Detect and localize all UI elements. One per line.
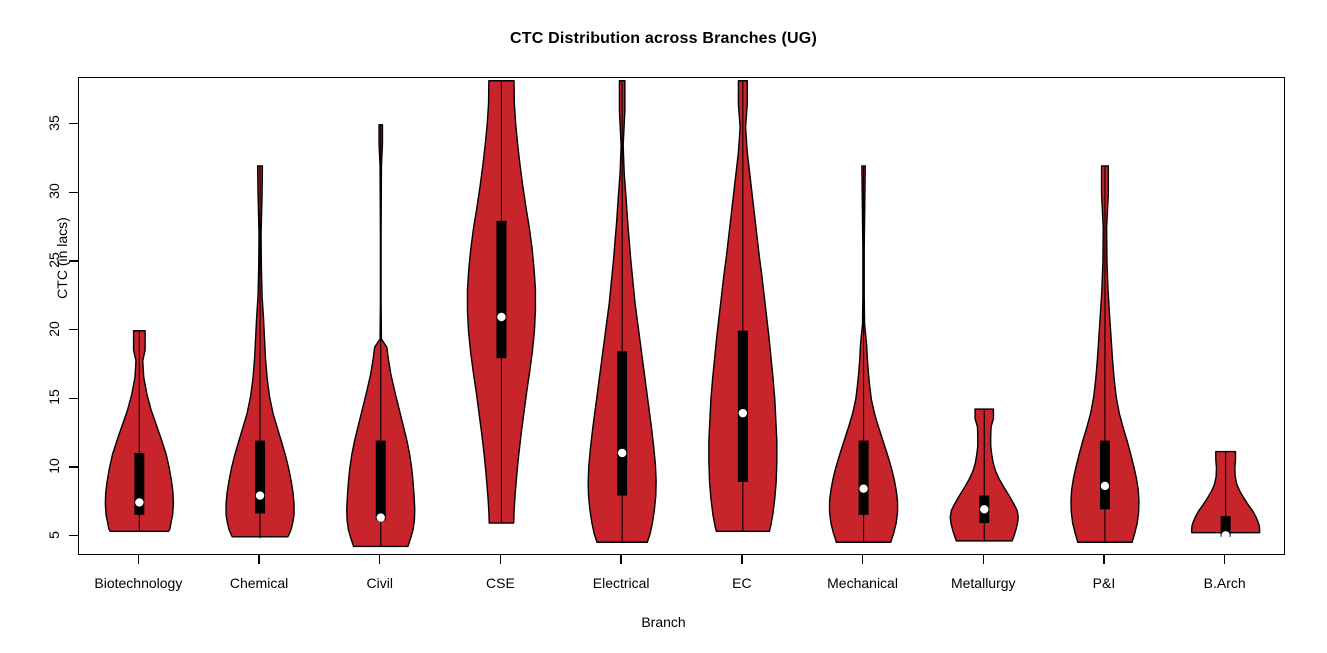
x-tick-mark (1224, 555, 1225, 564)
x-tick-label: Mechanical (827, 575, 898, 591)
x-tick-label: Biotechnology (94, 575, 182, 591)
violin-cse (467, 81, 535, 523)
page-title: CTC Distribution across Branches (UG) (0, 30, 1327, 48)
x-tick-mark (500, 555, 501, 564)
x-tick-mark (983, 555, 984, 564)
violin-p-i (1071, 166, 1139, 542)
violin-b-arch (1192, 452, 1260, 540)
y-tick-mark (69, 192, 78, 193)
median-marker (980, 505, 988, 513)
violin-metallurgy (950, 409, 1018, 541)
x-tick-mark (741, 555, 742, 564)
violin-chemical (226, 166, 294, 538)
x-tick-mark (258, 555, 259, 564)
iqr-box (859, 441, 869, 515)
iqr-box (255, 441, 265, 514)
median-marker (135, 498, 143, 506)
iqr-box (376, 441, 386, 521)
x-tick-mark (138, 555, 139, 564)
y-tick-mark (69, 398, 78, 399)
median-marker (859, 484, 867, 492)
iqr-box (496, 221, 506, 358)
x-tick-mark (620, 555, 621, 564)
y-tick-label: 5 (46, 520, 62, 550)
violin-civil (347, 125, 415, 547)
median-marker (739, 409, 747, 417)
x-tick-label: EC (732, 575, 751, 591)
iqr-box (1100, 441, 1110, 510)
violin-mechanical (830, 166, 898, 542)
x-tick-label: P&I (1093, 575, 1116, 591)
y-tick-mark (69, 329, 78, 330)
median-marker (377, 513, 385, 521)
y-tick-mark (69, 123, 78, 124)
x-tick-label: CSE (486, 575, 515, 591)
x-tick-mark (1103, 555, 1104, 564)
y-tick-mark (69, 535, 78, 536)
y-tick-label: 10 (46, 451, 62, 481)
y-tick-mark (69, 260, 78, 261)
iqr-box (617, 351, 627, 495)
median-marker (1221, 531, 1229, 539)
y-tick-label: 35 (46, 108, 62, 138)
x-tick-label: Civil (367, 575, 393, 591)
median-marker (497, 313, 505, 321)
x-axis-label: Branch (0, 614, 1327, 630)
violin-plot-figure: CTC Distribution across Branches (UG) CT… (0, 0, 1327, 653)
y-tick-mark (69, 466, 78, 467)
plot-area (78, 77, 1285, 555)
violin-electrical (588, 81, 656, 543)
y-tick-label: 20 (46, 314, 62, 344)
y-tick-label: 15 (46, 382, 62, 412)
iqr-box (738, 331, 748, 482)
violin-ec (709, 81, 777, 532)
y-tick-label: 30 (46, 176, 62, 206)
violin-biotechnology (105, 331, 173, 532)
x-tick-mark (862, 555, 863, 564)
median-marker (1101, 482, 1109, 490)
median-marker (618, 449, 626, 457)
violin-series-svg (79, 78, 1285, 555)
x-tick-label: Chemical (230, 575, 288, 591)
x-tick-label: Electrical (593, 575, 650, 591)
y-tick-label: 25 (46, 245, 62, 275)
x-tick-label: Metallurgy (951, 575, 1016, 591)
median-marker (256, 491, 264, 499)
x-tick-mark (379, 555, 380, 564)
x-tick-label: B.Arch (1204, 575, 1246, 591)
